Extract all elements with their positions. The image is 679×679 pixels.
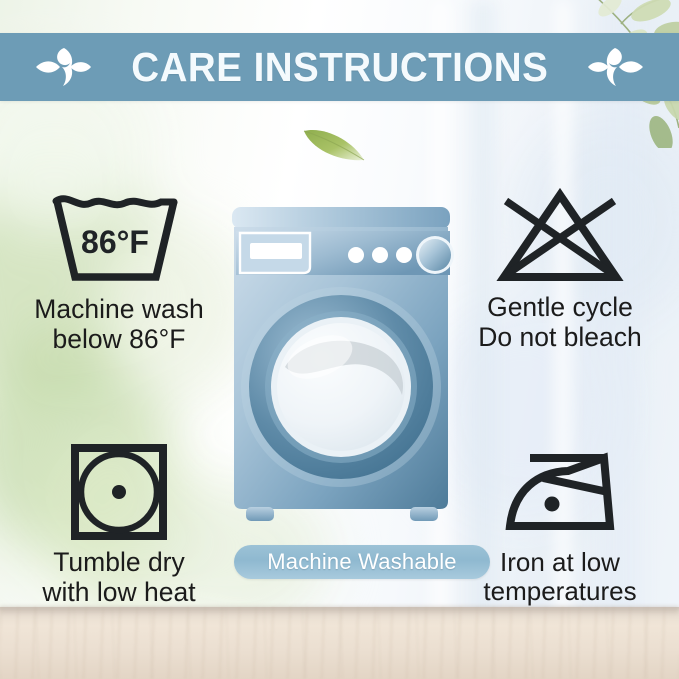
symbol-machine-wash: 86°F Machine wash below 86°F [14,190,224,354]
fleur-de-lis-icon [34,46,92,88]
tumble-dry-low-heat-icon [69,443,169,541]
symbol-caption: Tumble dry with low heat [42,548,195,607]
fleur-de-lis-icon [587,46,645,88]
care-instructions-infographic: CARE INSTRUCTIONS 86°F Machine wash belo… [0,0,679,679]
do-not-bleach-triangle-icon [490,188,630,286]
wash-tub-icon: 86°F [48,190,190,288]
washing-machine-illustration [228,205,454,535]
symbol-do-not-bleach: Gentle cycle Do not bleach [455,188,665,352]
symbol-tumble-dry: Tumble dry with low heat [14,443,224,607]
floating-leaf-icon [300,118,368,166]
symbol-caption: Iron at low temperatures [483,548,636,606]
machine-washable-badge: Machine Washable [234,545,490,579]
symbol-caption: Gentle cycle Do not bleach [478,293,642,352]
symbol-caption: Machine wash below 86°F [34,295,203,354]
wash-temperature-value: 86°F [81,224,149,260]
wood-table-surface [0,607,679,679]
iron-low-temperature-icon [496,443,624,541]
header-banner: CARE INSTRUCTIONS [0,33,679,101]
badge-label: Machine Washable [267,549,456,575]
symbol-iron: Iron at low temperatures [455,443,665,606]
page-title: CARE INSTRUCTIONS [131,47,548,88]
